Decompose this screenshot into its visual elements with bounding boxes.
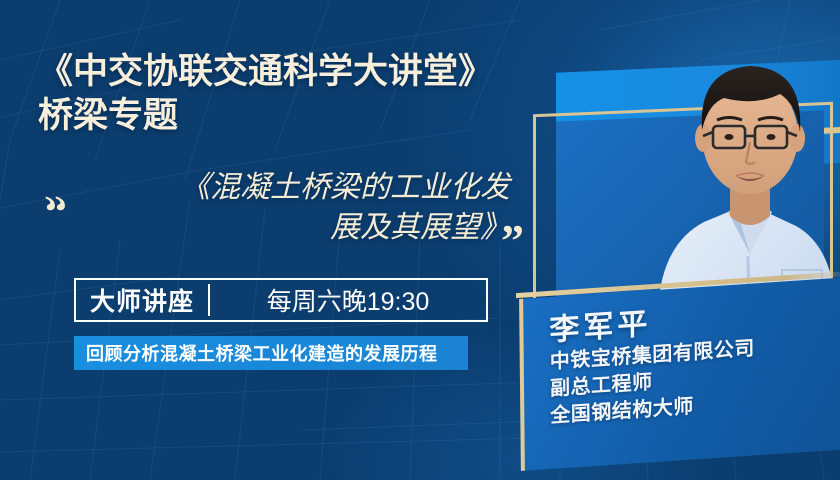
title-line-1: 《中交协联交通科学大讲堂》 <box>38 50 508 94</box>
topic-quote-line-1: 《混凝土桥梁的工业化发 <box>90 168 510 208</box>
topic-quote: ” 《混凝土桥梁的工业化发 展及其展望》 ” <box>38 168 518 268</box>
quote-open-mark: ” <box>44 172 67 218</box>
webinar-poster: 《中交协联交通科学大讲堂》 桥梁专题 ” 《混凝土桥梁的工业化发 展及其展望》 … <box>0 0 840 480</box>
topic-quote-line-2: 展及其展望》 <box>90 208 510 248</box>
speaker-info-text: 李军平 中铁宝桥集团有限公司 副总工程师 全国钢结构大师 <box>523 275 840 477</box>
schedule-label: 大师讲座 <box>76 280 208 320</box>
subtitle-bar: 回顾分析混凝土桥梁工业化建造的发展历程 <box>74 336 468 370</box>
topic-quote-text: 《混凝土桥梁的工业化发 展及其展望》 <box>90 168 510 248</box>
subtitle-text: 回顾分析混凝土桥梁工业化建造的发展历程 <box>86 340 438 366</box>
event-title: 《中交协联交通科学大讲堂》 桥梁专题 <box>38 50 508 138</box>
schedule-time: 每周六晚19:30 <box>210 280 486 320</box>
quote-close-mark: ” <box>501 218 524 264</box>
schedule-box: 大师讲座 每周六晚19:30 <box>74 278 488 322</box>
title-line-2: 桥梁专题 <box>38 94 508 138</box>
